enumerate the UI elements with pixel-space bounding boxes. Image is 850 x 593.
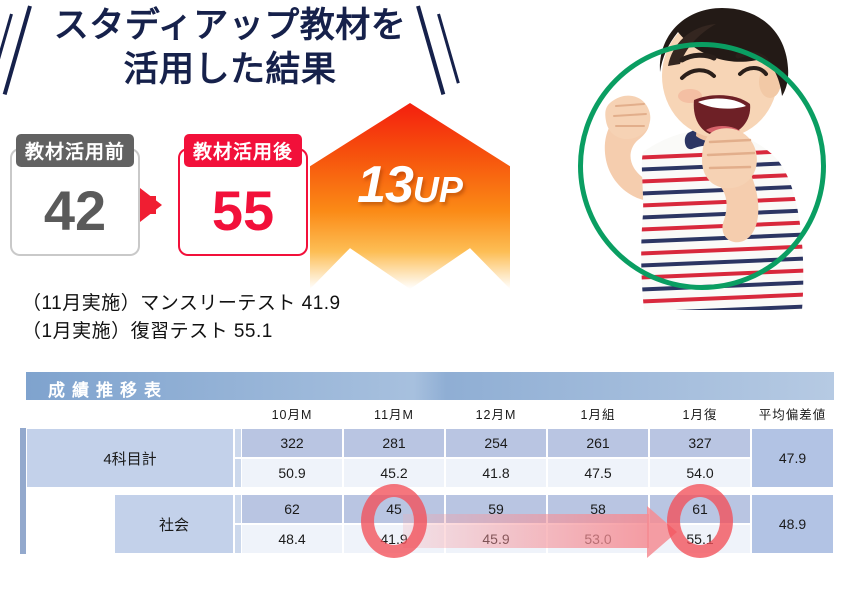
before-label: 教材活用前: [16, 134, 134, 167]
decorative-slash-left-outer: [3, 5, 32, 95]
score-card-before: 教材活用前 42: [10, 148, 140, 256]
highlight-circle-before: [361, 484, 427, 558]
title-line-1: スタディアップ教材を: [40, 4, 420, 48]
green-circle-frame: [578, 42, 826, 290]
improvement-suffix: UP: [413, 169, 463, 210]
page-title: スタディアップ教材を 活用した結果: [40, 4, 420, 92]
poster-root: スタディアップ教材を 活用した結果 教材活用前 42 教材活用後 55 13UP: [0, 0, 850, 593]
row-label-社会: 社会: [114, 494, 234, 554]
deviation-cell-0-2: 41.8: [445, 458, 547, 488]
before-value: 42: [12, 180, 138, 242]
table-title: 成績推移表: [26, 372, 834, 401]
caption-line-1: （11月実施）マンスリーテスト 41.9: [22, 288, 341, 315]
score-cell-0-0: 322: [241, 428, 343, 458]
average-cell-0: 47.9: [751, 428, 834, 488]
score-card-after: 教材活用後 55: [178, 148, 308, 256]
after-label: 教材活用後: [184, 134, 302, 167]
average-cell-1: 48.9: [751, 494, 834, 554]
column-header-1: 10月M: [241, 404, 343, 424]
improvement-number: 13: [357, 156, 413, 214]
score-cell-1-0: 62: [241, 494, 343, 524]
column-header-3: 12月M: [445, 404, 547, 424]
deviation-cell-1-0: 48.4: [241, 524, 343, 554]
title-line-2: 活用した結果: [40, 48, 420, 92]
column-header-6: 平均偏差値: [751, 404, 834, 424]
table-left-shadow: [20, 428, 26, 554]
deviation-cell-0-3: 47.5: [547, 458, 649, 488]
row-label-4科目計: 4科目計: [26, 428, 234, 488]
deviation-cell-0-0: 50.9: [241, 458, 343, 488]
improvement-text: 13UP: [310, 155, 510, 215]
decorative-slash-right-inner: [437, 14, 460, 84]
pink-transition-arrow-body: [403, 514, 649, 548]
score-progress-table: 成績推移表 10月M11月M12月M1月組1月復平均偏差値 4科目計得点偏差値3…: [18, 372, 834, 587]
table-title-bar: 成績推移表: [26, 372, 834, 400]
column-header-4: 1月組: [547, 404, 649, 424]
score-cell-0-4: 327: [649, 428, 751, 458]
student-photo: [548, 0, 848, 330]
red-arrow-icon: [140, 188, 162, 222]
caption-line-2: （1月実施）復習テスト 55.1: [22, 316, 273, 343]
highlight-circle-after: [667, 484, 733, 558]
column-header-2: 11月M: [343, 404, 445, 424]
score-cell-0-3: 261: [547, 428, 649, 458]
score-cell-0-2: 254: [445, 428, 547, 458]
column-header-5: 1月復: [649, 404, 751, 424]
after-value: 55: [180, 180, 306, 242]
score-cell-0-1: 281: [343, 428, 445, 458]
